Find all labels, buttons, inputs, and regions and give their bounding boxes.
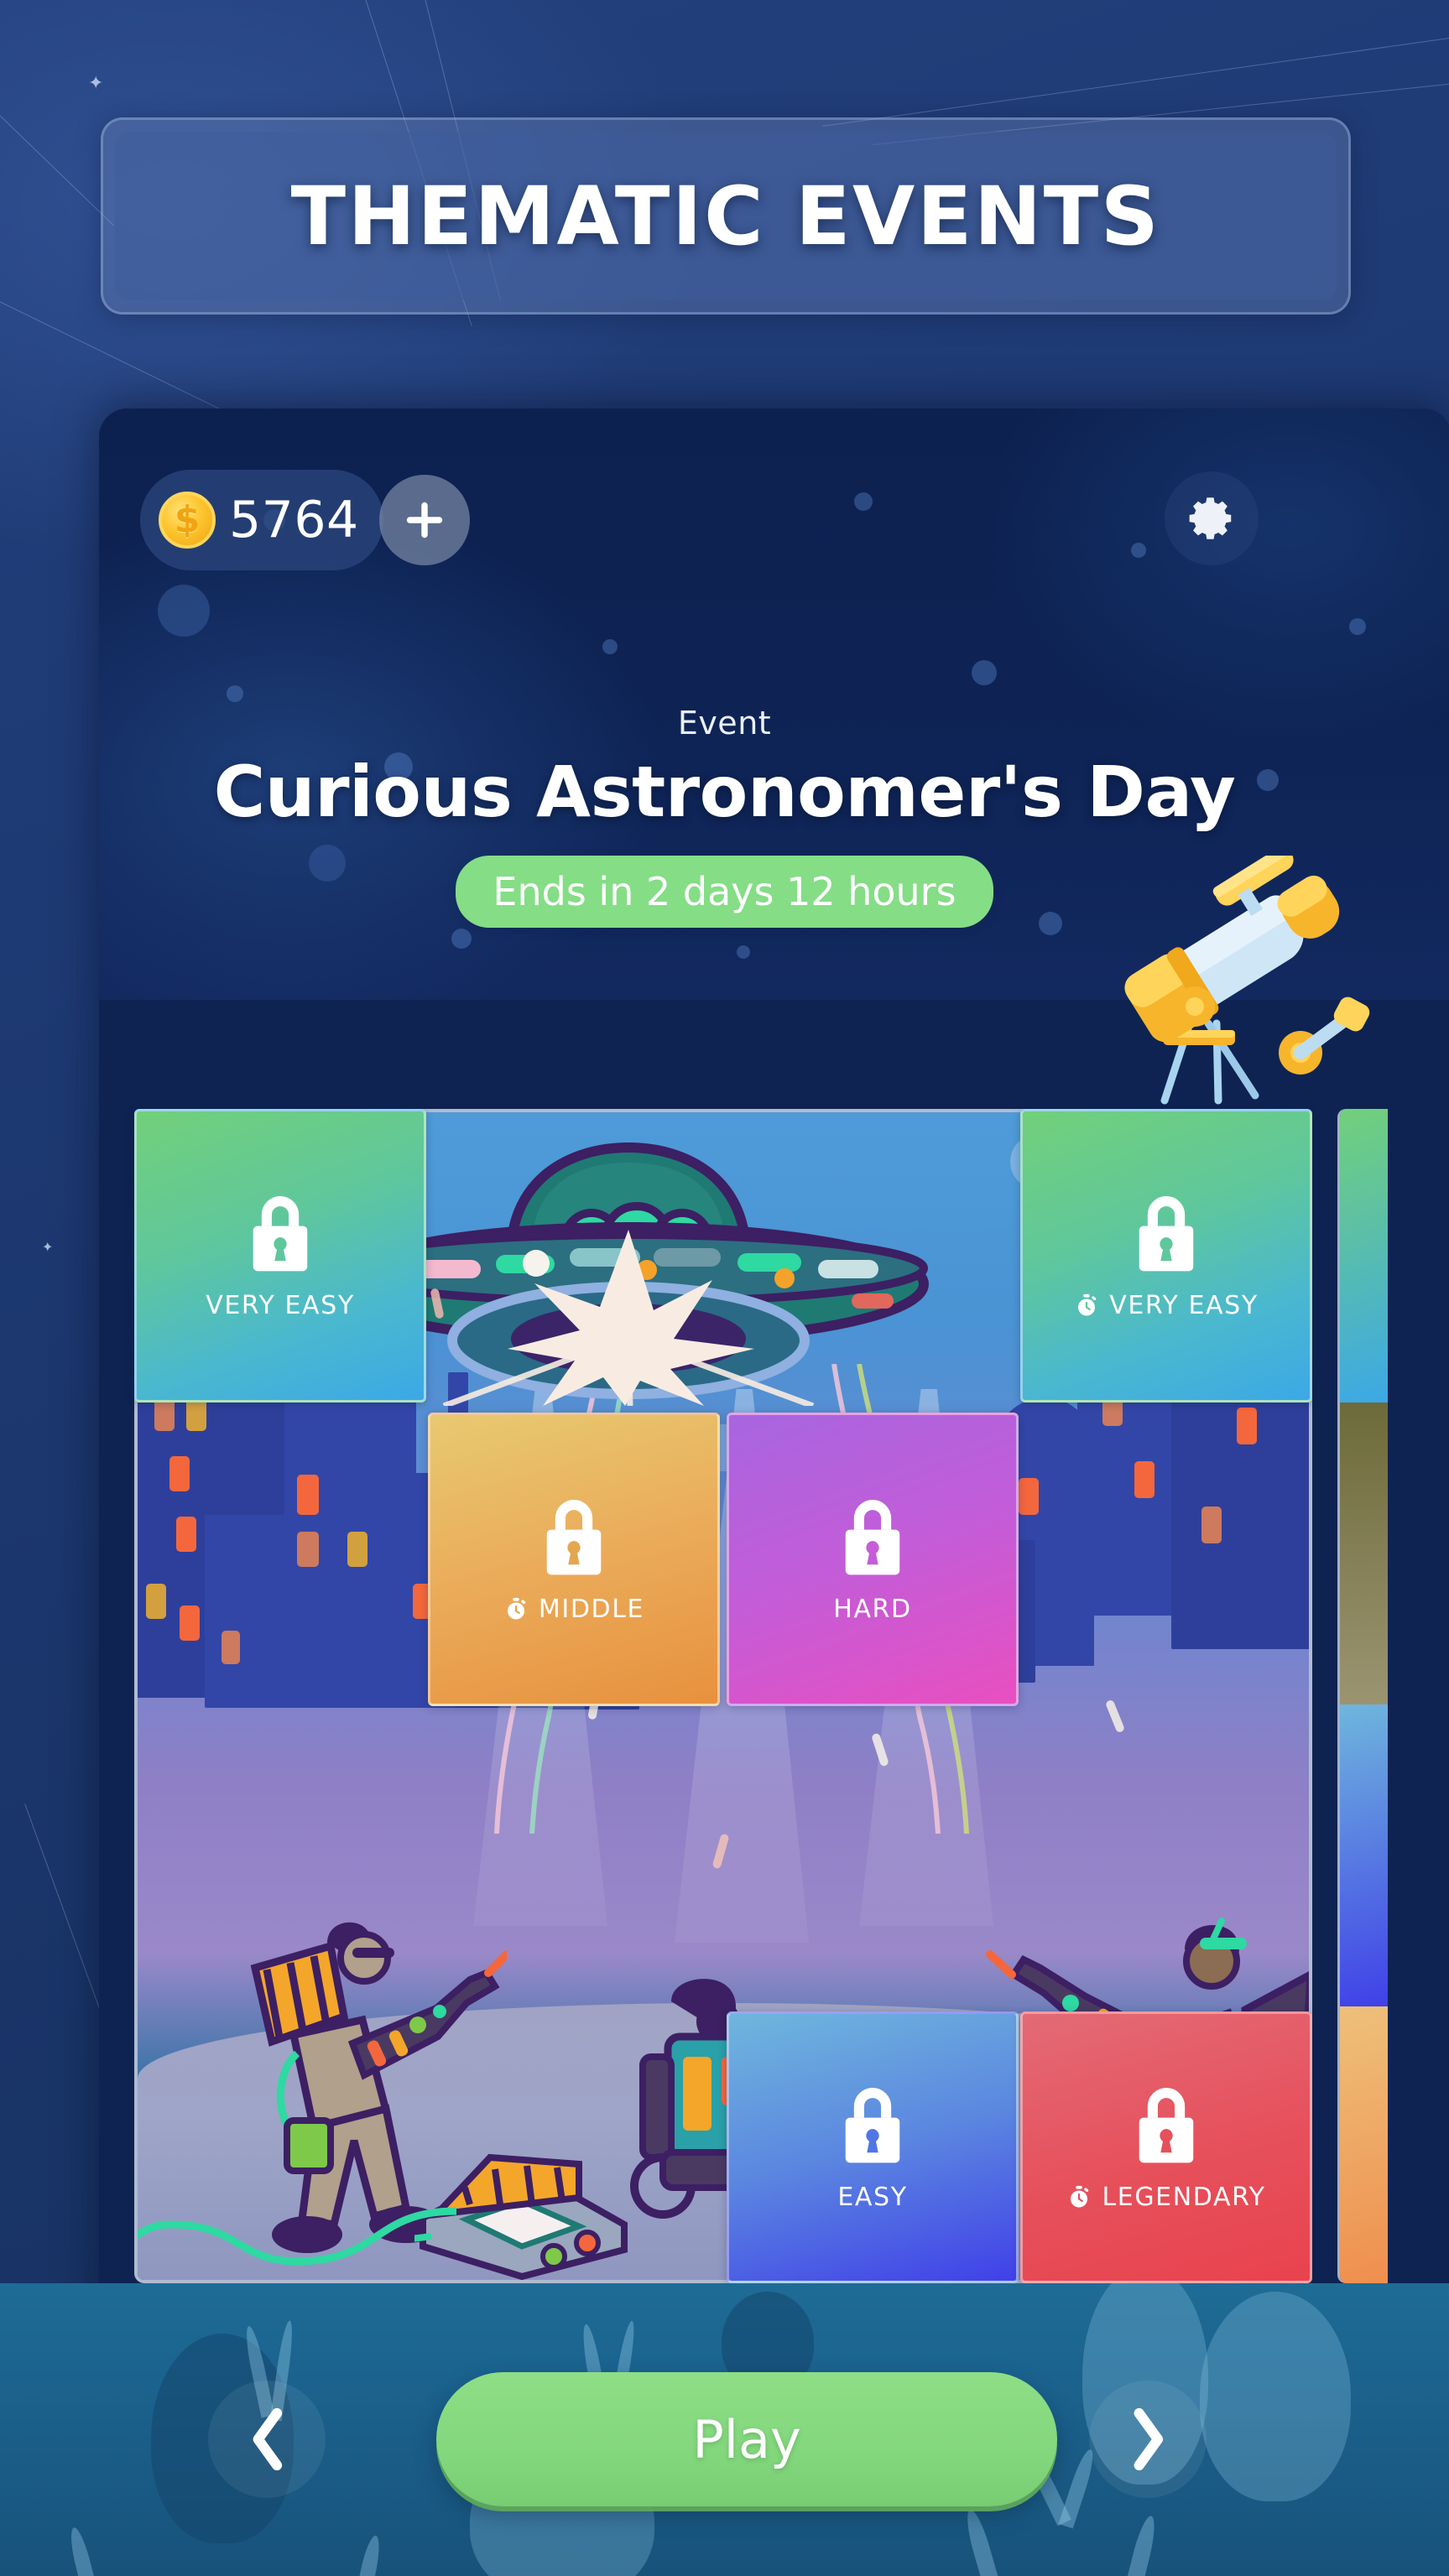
previous-event-button[interactable] — [208, 2381, 326, 2498]
difficulty-tile-label-wrap: LEGENDARY — [1066, 2183, 1265, 2212]
difficulty-tile-very-easy-1[interactable]: VERY EASY — [134, 1109, 426, 1402]
add-coins-button[interactable] — [379, 475, 470, 565]
lock-icon — [837, 2084, 909, 2167]
difficulty-tile-label-wrap: VERY EASY — [1074, 1291, 1259, 1320]
page-title: THEMATIC EVENTS — [291, 169, 1161, 263]
star-dot — [451, 929, 472, 949]
event-title: Curious Astronomer's Day — [0, 753, 1449, 830]
background-streak — [822, 21, 1449, 127]
grass-blade — [353, 2534, 383, 2576]
peek-tile — [1340, 1704, 1388, 2006]
event-countdown-badge: Ends in 2 days 12 hours — [456, 856, 993, 928]
difficulty-tile-hard[interactable]: HARD — [727, 1413, 1019, 1706]
star-dot — [737, 945, 750, 959]
plus-icon — [401, 497, 448, 544]
stopwatch-icon — [1066, 2184, 1092, 2209]
chevron-left-icon — [244, 2407, 289, 2471]
star-dot — [1131, 543, 1146, 558]
play-button[interactable]: Play — [436, 2372, 1057, 2506]
coin-dollar-icon: $ — [159, 492, 216, 549]
coin-amount-label: 5764 — [229, 491, 359, 549]
lock-icon — [538, 1496, 610, 1579]
next-event-button[interactable] — [1089, 2381, 1207, 2498]
grass-blade — [962, 2507, 1002, 2576]
next-event-card-peek[interactable] — [1337, 1109, 1388, 2283]
grass-blade — [1123, 2514, 1160, 2576]
difficulty-tile-legendary[interactable]: LEGENDARY — [1020, 2011, 1312, 2283]
telescope-icon — [1091, 856, 1376, 1107]
difficulty-tile-easy[interactable]: EASY — [727, 2011, 1019, 2283]
building-window — [169, 1456, 190, 1491]
lock-icon — [837, 1496, 909, 1579]
building-window — [297, 1532, 319, 1567]
star-dot — [227, 685, 243, 702]
grass-blade — [66, 2526, 99, 2576]
lock-icon — [244, 1192, 316, 1276]
peek-tile — [1340, 1109, 1388, 1402]
difficulty-tile-label: EASY — [837, 2183, 907, 2212]
building-window — [146, 1584, 166, 1619]
difficulty-tile-label: VERY EASY — [206, 1291, 355, 1320]
difficulty-tile-label-wrap: MIDDLE — [503, 1595, 644, 1624]
building-window — [1237, 1408, 1257, 1444]
difficulty-tile-very-easy-2[interactable]: VERY EASY — [1020, 1109, 1312, 1402]
settings-button[interactable] — [1165, 471, 1259, 565]
star-dot — [158, 585, 210, 637]
peek-tile — [1340, 2006, 1388, 2283]
peek-art — [1340, 1402, 1388, 1704]
play-button-label: Play — [692, 2409, 800, 2470]
building-window — [176, 1517, 196, 1552]
stopwatch-icon — [1074, 1293, 1099, 1318]
building-window — [297, 1475, 319, 1515]
building-window — [1201, 1507, 1222, 1543]
coin-balance[interactable]: $ 5764 — [140, 470, 383, 570]
difficulty-tile-label: VERY EASY — [1109, 1291, 1259, 1320]
gear-icon — [1186, 492, 1238, 544]
trap-cable — [134, 2203, 456, 2283]
difficulty-tile-label: HARD — [833, 1595, 911, 1624]
lock-icon — [1130, 2084, 1202, 2167]
star-dot — [854, 492, 873, 511]
building-window — [347, 1532, 367, 1567]
lock-icon — [1130, 1192, 1202, 1276]
building-window — [180, 1605, 200, 1641]
sparkle-icon: ✦ — [88, 74, 103, 92]
sparkle-icon: ✦ — [42, 1241, 53, 1255]
star-dot — [1349, 618, 1366, 635]
difficulty-tile-label: LEGENDARY — [1102, 2183, 1265, 2212]
chevron-right-icon — [1125, 2407, 1170, 2471]
difficulty-tile-label: MIDDLE — [539, 1595, 644, 1624]
star-dot — [972, 660, 997, 685]
foliage — [1200, 2292, 1351, 2501]
star-dot — [602, 639, 618, 654]
stopwatch-icon — [503, 1596, 529, 1621]
difficulty-tile-middle[interactable]: MIDDLE — [428, 1413, 720, 1706]
event-kicker-label: Event — [0, 705, 1449, 742]
building-window — [222, 1631, 240, 1664]
building-window — [1134, 1461, 1155, 1498]
page-title-banner: THEMATIC EVENTS — [101, 117, 1351, 315]
